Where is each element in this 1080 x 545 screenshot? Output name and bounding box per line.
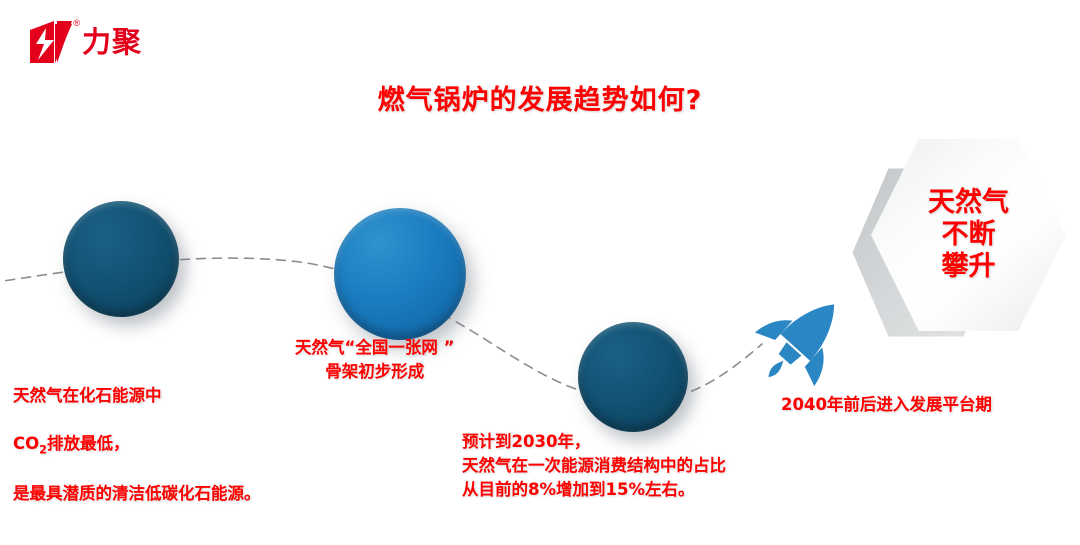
stage-3-node [578, 322, 688, 432]
caption-stage-4: 2040年前后进入发展平台期 [781, 393, 992, 417]
hexagon-callout-label: 天然气 不断 攀升 [928, 187, 1009, 283]
caption-stage-3: 预计到2030年， 天然气在一次能源消费结构中的占比 从目前的8%增加到15%左… [462, 430, 726, 502]
slide-title: 燃气锅炉的发展趋势如何? [0, 78, 1080, 117]
co2-suffix: 排放最低， [47, 434, 130, 453]
stage-2-node [334, 208, 466, 340]
caption-stage-1-line-2: CO2排放最低， [13, 432, 261, 459]
slide-canvas: ® 力聚 燃气锅炉的发展趋势如何? 天然气 不断 攀升 天然气在化石能源中 CO… [0, 0, 1080, 545]
co2-prefix: CO [13, 434, 39, 453]
stage-1-node [63, 201, 179, 317]
caption-stage-1-line-3: 是最具潜质的清洁低碳化石能源。 [13, 482, 261, 506]
rocket-icon [748, 288, 856, 392]
brand-logo: ® 力聚 [24, 18, 184, 66]
co2-subscript: 2 [39, 443, 47, 456]
liju-lightning-mark-icon: ® [24, 20, 76, 64]
caption-stage-1: 天然气在化石能源中 CO2排放最低， 是最具潜质的清洁低碳化石能源。 [13, 360, 261, 530]
registered-trademark-symbol: ® [73, 19, 80, 28]
caption-stage-2: 天然气“全国一张网 ” 骨架初步形成 [295, 336, 454, 384]
brand-name: 力聚 [82, 28, 142, 57]
caption-stage-1-line-1: 天然气在化石能源中 [13, 384, 261, 408]
